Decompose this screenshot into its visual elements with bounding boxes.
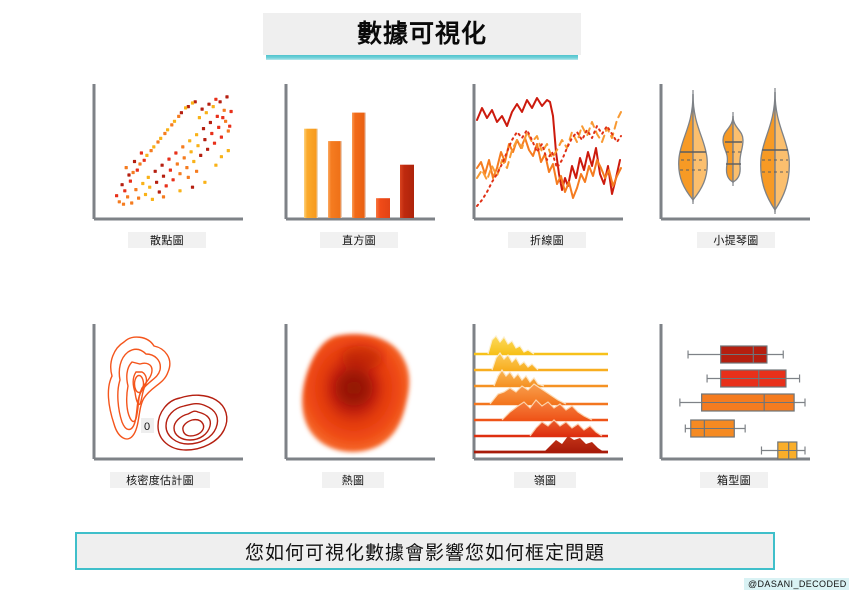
scatter-point [141, 182, 144, 185]
histogram-bar [328, 141, 342, 218]
scatter-point [154, 170, 157, 173]
scatter-point [224, 120, 227, 123]
scatter-point [156, 140, 159, 143]
caption-ridgeline: 嶺圖 [514, 472, 576, 488]
scatter-point [195, 170, 198, 173]
scatter-point [181, 145, 184, 148]
caption-violin: 小提琴圖 [697, 232, 775, 248]
scatter-point [132, 171, 135, 174]
ridge-row-1 [474, 336, 608, 354]
scatter-point [191, 101, 194, 104]
scatter-point [159, 137, 162, 140]
scatter-point [187, 176, 190, 179]
ridge-row-6 [474, 420, 608, 436]
scatter-point [217, 126, 220, 129]
chart-boxplot [655, 322, 815, 482]
scatter-point [152, 145, 155, 148]
kde-contours-orange [108, 337, 169, 439]
scatter-point [178, 189, 181, 192]
boxplot-svg [655, 322, 815, 467]
scatter-point [134, 188, 137, 191]
ridge-row-3 [474, 370, 608, 386]
scatter-point [148, 186, 151, 189]
scatter-point [184, 106, 187, 109]
scatter-point [205, 111, 208, 114]
caption-heatmap: 熱圖 [322, 472, 384, 488]
scatter-point [203, 138, 206, 141]
ridgeline-svg [468, 322, 628, 467]
scatter-point [145, 154, 148, 157]
violin-plot-svg [655, 82, 815, 227]
scatter-point [220, 136, 223, 139]
chart-ridgeline [468, 322, 628, 482]
scatter-point [210, 132, 213, 135]
title-banner: 數據可視化 [263, 13, 581, 55]
footer-text: 您如何可視化數據會影響您如何框定問題 [245, 538, 605, 565]
scatter-point [162, 195, 165, 198]
histogram-bar [352, 113, 366, 218]
scatter-point [192, 160, 195, 163]
caption-scatter: 散點圖 [128, 232, 206, 248]
scatter-point [136, 169, 139, 172]
watermark-label: @DASANI_DECODED [744, 578, 849, 590]
scatter-point [228, 125, 231, 128]
scatter-point [123, 189, 126, 192]
scatter-point [140, 151, 143, 154]
scatter-point [207, 103, 210, 106]
scatter-point [178, 172, 181, 175]
line-series-group [477, 98, 621, 206]
axes [474, 84, 623, 219]
scatter-point [150, 149, 153, 152]
scatter-point [185, 166, 188, 169]
scatter-point [162, 175, 165, 178]
caption-kde: 核密度估計圖 [110, 472, 210, 488]
scatter-point [138, 162, 141, 165]
scatter-point [121, 183, 124, 186]
boxplot-box [688, 346, 783, 363]
chart-scatter [88, 82, 248, 242]
kde-contours-red [158, 395, 227, 450]
scatter-point [176, 162, 179, 165]
kde-contour-svg: 0 [88, 322, 248, 467]
scatter-point [206, 148, 209, 151]
kde-zero-label: 0 [144, 421, 150, 433]
scatter-point [196, 144, 199, 147]
histogram-bar [376, 198, 390, 218]
caption-histogram: 直方圖 [320, 232, 398, 248]
scatter-point [161, 164, 164, 167]
scatter-point [191, 186, 194, 189]
scatter-point [155, 181, 158, 184]
scatter-point [165, 184, 168, 187]
boxplot-box [707, 370, 799, 387]
axes [94, 84, 243, 219]
histogram-bars [304, 113, 414, 218]
scatter-point [163, 132, 166, 135]
boxplot-box [761, 442, 805, 459]
scatter-point [177, 115, 180, 118]
scatter-point [169, 169, 172, 172]
chart-histogram [280, 82, 440, 242]
scatter-point [183, 156, 186, 159]
violin-body-1 [679, 90, 708, 204]
scatter-point [214, 98, 217, 101]
scatter-point [227, 149, 230, 152]
scatter-point [209, 121, 212, 124]
scatter-point [214, 164, 217, 167]
histogram-bar [400, 165, 414, 218]
scatter-point [125, 166, 128, 169]
caption-line: 折線圖 [508, 232, 586, 248]
scatter-point [180, 111, 183, 114]
chart-line [468, 82, 628, 242]
boxplot-box [680, 394, 805, 411]
histogram-svg [280, 82, 440, 227]
boxplot-box [685, 420, 745, 437]
scatter-point [221, 116, 224, 119]
scatter-point [137, 197, 140, 200]
axes [661, 324, 810, 459]
scatter-point [170, 123, 173, 126]
scatter-point [216, 115, 219, 118]
scatter-point [127, 173, 130, 176]
scatter-point [158, 190, 161, 193]
title-underline-rule [266, 55, 578, 60]
scatter-point [129, 180, 132, 183]
scatter-point [230, 110, 233, 113]
caption-boxplot: 箱型圖 [700, 472, 768, 488]
line-series-1 [477, 98, 620, 194]
scatter-point [173, 120, 176, 123]
scatter-point [203, 181, 206, 184]
footer-banner: 您如何可視化數據會影響您如何框定問題 [75, 532, 775, 570]
chart-violin [655, 82, 815, 242]
violin-body-3 [761, 88, 790, 214]
scatter-point [115, 194, 118, 197]
violin-body-2 [723, 112, 743, 186]
scatter-point [118, 200, 121, 203]
scatter-point [133, 160, 136, 163]
scatter-plot-svg [88, 82, 248, 227]
scatter-point [143, 159, 146, 162]
kde-zero-annotation: 0 [141, 418, 154, 433]
slide-canvas: 數據可視化 散點圖 [0, 0, 849, 600]
boxplot-boxes [680, 346, 805, 459]
scatter-point [122, 203, 125, 206]
scatter-point [198, 116, 201, 119]
scatter-point [219, 100, 222, 103]
scatter-point [213, 142, 216, 145]
scatter-point [195, 133, 198, 136]
scatter-point [172, 178, 175, 181]
scatter-point [151, 198, 154, 201]
chart-kde: 0 [88, 322, 248, 482]
heatmap-svg [280, 322, 440, 467]
scatter-point [188, 139, 191, 142]
scatter-point [227, 129, 230, 132]
scatter-point [126, 195, 129, 198]
ridge-row-7 [474, 436, 608, 452]
scatter-points [115, 95, 233, 205]
scatter-point [190, 150, 193, 153]
scatter-point [202, 127, 205, 130]
histogram-bar [304, 129, 318, 218]
scatter-point [225, 95, 228, 98]
page-title: 數據可視化 [357, 22, 487, 47]
scatter-point [220, 155, 223, 158]
scatter-point [199, 154, 202, 157]
line-chart-svg [468, 82, 628, 227]
axes [94, 324, 243, 459]
scatter-point [166, 128, 169, 131]
scatter-point [223, 109, 226, 112]
ridge-row-2 [474, 353, 608, 370]
scatter-point [212, 105, 215, 108]
scatter-point [167, 158, 170, 161]
scatter-point [130, 201, 133, 204]
scatter-point [174, 151, 177, 154]
scatter-point [144, 193, 147, 196]
scatter-point [201, 108, 204, 111]
chart-heatmap [280, 322, 440, 482]
scatter-point [147, 176, 150, 179]
